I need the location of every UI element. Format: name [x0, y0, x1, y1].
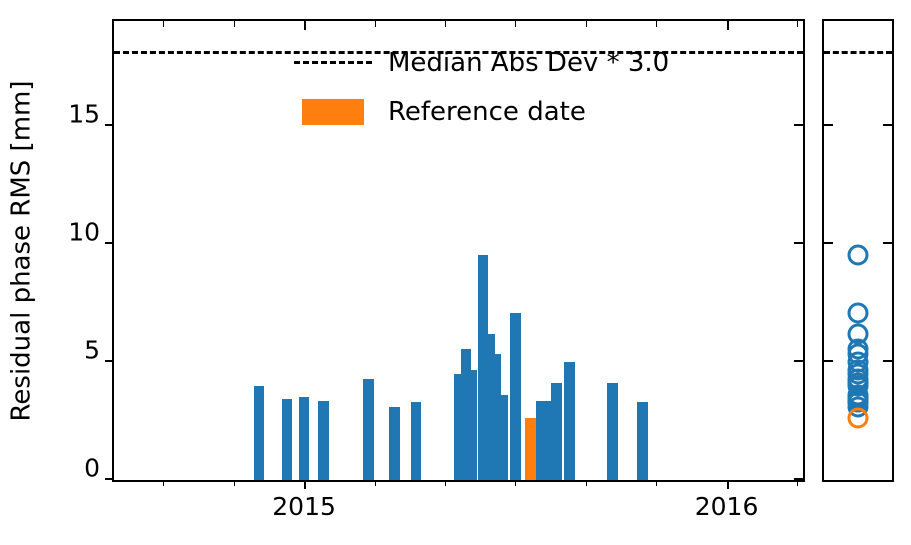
side-y-axis-tick-right — [883, 242, 892, 244]
side-y-axis-tick-right — [883, 360, 892, 362]
dashed-line-icon — [290, 61, 376, 64]
legend: Median Abs Dev * 3.0 Reference date — [290, 38, 770, 136]
x-axis-minor-tick-top — [234, 21, 235, 27]
x-axis-minor-tick — [234, 480, 235, 486]
y-axis-tick-right — [794, 478, 803, 480]
bar — [637, 402, 648, 480]
x-axis-tick-top — [727, 21, 729, 30]
y-axis-tick-right — [794, 242, 803, 244]
scatter-plot-area — [824, 21, 892, 480]
bar — [282, 399, 293, 480]
bar-reference-date — [525, 418, 536, 480]
x-axis-tick — [304, 480, 306, 489]
bar — [564, 362, 575, 480]
scatter-point-reference — [847, 407, 868, 428]
y-axis-tick-right — [794, 124, 803, 126]
scatter-point — [847, 323, 868, 344]
y-axis-tick-label: 0 — [84, 455, 100, 480]
x-axis-minor-tick-top — [445, 21, 446, 27]
legend-item-reference: Reference date — [290, 87, 770, 136]
side-y-axis-tick — [824, 124, 833, 126]
x-axis-minor-tick-top — [797, 21, 798, 27]
y-axis-tick — [105, 242, 114, 244]
bar — [389, 407, 400, 480]
side-distribution-axes — [822, 19, 894, 482]
y-axis-tick — [105, 478, 114, 480]
side-y-axis-tick — [824, 242, 833, 244]
x-axis-minor-tick — [797, 480, 798, 486]
x-axis-minor-tick-top — [656, 21, 657, 27]
x-axis-tick-top — [304, 21, 306, 30]
bar — [411, 402, 422, 480]
x-axis-tick-label: 2016 — [695, 494, 759, 519]
x-axis-minor-tick — [445, 480, 446, 486]
scatter-point — [847, 244, 868, 265]
x-axis-minor-tick-top — [586, 21, 587, 27]
x-axis-tick-label: 2015 — [272, 494, 336, 519]
x-axis-minor-tick-top — [163, 21, 164, 27]
y-axis-tick-right — [794, 360, 803, 362]
bar — [299, 397, 310, 480]
x-axis-minor-tick-top — [515, 21, 516, 27]
bar — [467, 370, 478, 480]
side-y-axis-tick-right — [883, 124, 892, 126]
scatter-point — [847, 352, 868, 373]
legend-label-reference: Reference date — [376, 97, 586, 127]
bar — [551, 383, 562, 480]
color-patch-icon — [290, 99, 376, 125]
legend-label-threshold: Median Abs Dev * 3.0 — [376, 48, 669, 78]
x-axis-minor-tick-top — [375, 21, 376, 27]
x-axis-tick — [727, 480, 729, 489]
x-axis-minor-tick — [656, 480, 657, 486]
bar — [510, 313, 521, 480]
y-axis-tick — [105, 360, 114, 362]
y-axis-title: Residual phase RMS [mm] — [6, 19, 36, 482]
scatter-point — [847, 302, 868, 323]
main-plot-axes: 05101520152016 Median Abs Dev * 3.0 Refe… — [112, 19, 805, 482]
scatter-point — [847, 373, 868, 394]
bar — [254, 386, 265, 480]
bar — [497, 395, 508, 480]
x-axis-minor-tick — [375, 480, 376, 486]
y-axis-title-label: Residual phase RMS [mm] — [6, 80, 36, 421]
bar — [318, 401, 329, 480]
bar — [363, 379, 374, 480]
side-y-axis-tick — [824, 360, 833, 362]
x-axis-minor-tick — [515, 480, 516, 486]
x-axis-minor-tick — [586, 480, 587, 486]
figure: Residual phase RMS [mm] 05101520152016 M… — [0, 0, 911, 545]
y-axis-tick — [105, 124, 114, 126]
y-axis-tick-label: 5 — [84, 337, 100, 362]
x-axis-minor-tick — [163, 480, 164, 486]
y-axis-tick-label: 10 — [68, 219, 100, 244]
y-axis-tick-label: 15 — [68, 101, 100, 126]
threshold-line-side — [824, 51, 892, 54]
bar — [607, 383, 618, 480]
legend-item-threshold: Median Abs Dev * 3.0 — [290, 38, 770, 87]
